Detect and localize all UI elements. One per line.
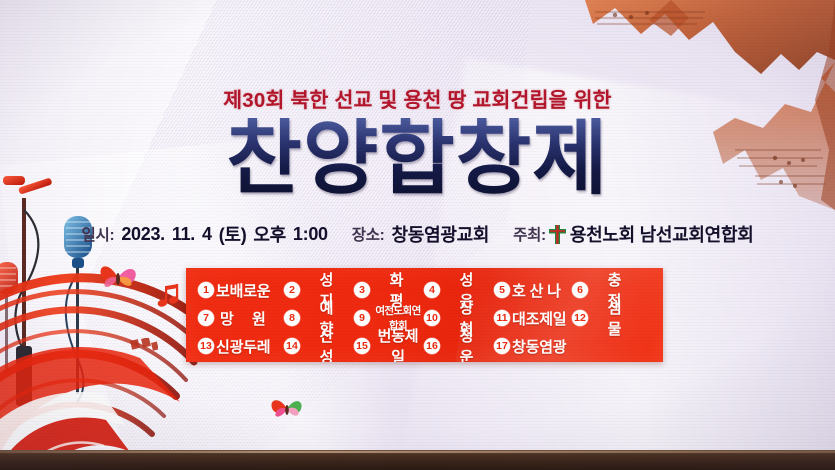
- program-item-label: 보배로운: [216, 280, 270, 301]
- butterfly-icon: [268, 392, 308, 429]
- program-item-number: ②2: [284, 282, 300, 298]
- program-item-number: ①1: [198, 282, 214, 298]
- date-label: 일시:: [82, 223, 115, 245]
- music-note-icon: [156, 282, 182, 315]
- program-item-label: 창동염광: [512, 336, 566, 357]
- date-day: 4: [202, 224, 212, 245]
- program-item: ⑪11대조제일: [494, 308, 572, 329]
- program-item-label: 대조제일: [512, 308, 566, 329]
- program-item-number: ⑩10: [424, 310, 440, 326]
- stage-edge-bar: [0, 450, 835, 470]
- program-item-label: 망 원: [216, 308, 273, 329]
- program-item-label: 신광두레: [216, 336, 270, 357]
- program-item-number: ⑧8: [284, 310, 300, 326]
- program-item-number: ③3: [354, 282, 370, 298]
- program-item: ⑭14산 성: [284, 325, 354, 362]
- program-item: ⑤5호 산 나: [494, 280, 572, 301]
- program-item: ⑮15번동제일: [354, 325, 424, 362]
- date-month: 11.: [172, 224, 195, 245]
- program-item-label: 호 산 나: [512, 280, 561, 301]
- program-item: ⑬13신광두레: [198, 336, 284, 357]
- program-item-label: 번동제일: [372, 325, 424, 362]
- program-item-label: 청 운: [442, 325, 494, 362]
- butterfly-icon: [96, 258, 142, 301]
- music-note-icon: [124, 338, 158, 371]
- program-item-number: ⑦7: [198, 310, 214, 326]
- poster-screenshot: 제30회 북한 선교 및 용천 땅 교회건립을 위한 찬양합창제 일시: 202…: [0, 0, 835, 470]
- host-value: 용천노회 남선교회연합회: [570, 221, 754, 247]
- page-title: 찬양합창제: [0, 118, 835, 200]
- place-label: 장소:: [352, 223, 385, 245]
- program-item-number: ⑭14: [284, 338, 300, 354]
- time-prefix: 오후: [253, 221, 286, 247]
- program-item-number: ⑯16: [424, 338, 440, 354]
- program-item-label: 산 성: [302, 325, 354, 362]
- program-item-number: ⑮15: [354, 338, 370, 354]
- program-item-number: ⑥6: [572, 282, 588, 298]
- green-cross-icon: [549, 225, 566, 244]
- host-label: 주최:: [513, 223, 546, 245]
- program-item-number: ⑰17: [494, 338, 510, 354]
- event-info-line: 일시: 2023. 11. 4 (토) 오후 1:00 장소: 창동염광교회 주…: [0, 221, 835, 247]
- program-item-number: ⑫12: [572, 310, 588, 326]
- place-value: 창동염광교회: [392, 221, 490, 247]
- program-item-number: ⑪11: [494, 310, 510, 326]
- program-item-number: ⑤5: [494, 282, 510, 298]
- program-banner: ①1보배로운②2성 지③3화 평④4성 은⑤5호 산 나⑥6충 정⑦7망 원⑧8…: [186, 268, 663, 362]
- date-weekday: (토): [219, 221, 247, 247]
- program-row: ⑬13신광두레⑭14산 성⑮15번동제일⑯16청 운⑰17창동염광: [198, 333, 653, 359]
- poster-subheading: 제30회 북한 선교 및 용천 땅 교회건립을 위한: [0, 83, 835, 113]
- program-item: ①1보배로운: [198, 280, 284, 301]
- date-year: 2023.: [121, 224, 165, 245]
- program-item: ⑦7망 원: [198, 308, 284, 329]
- program-item-number: ④4: [424, 282, 440, 298]
- program-item-number: ⑬13: [198, 338, 214, 354]
- time-value: 1:00: [293, 224, 328, 245]
- program-rows: ①1보배로운②2성 지③3화 평④4성 은⑤5호 산 나⑥6충 정⑦7망 원⑧8…: [186, 268, 663, 359]
- program-item-number: ⑨9: [354, 310, 370, 326]
- program-item: ⑯16청 운: [424, 325, 494, 362]
- program-item: ⑰17창동염광: [494, 336, 572, 357]
